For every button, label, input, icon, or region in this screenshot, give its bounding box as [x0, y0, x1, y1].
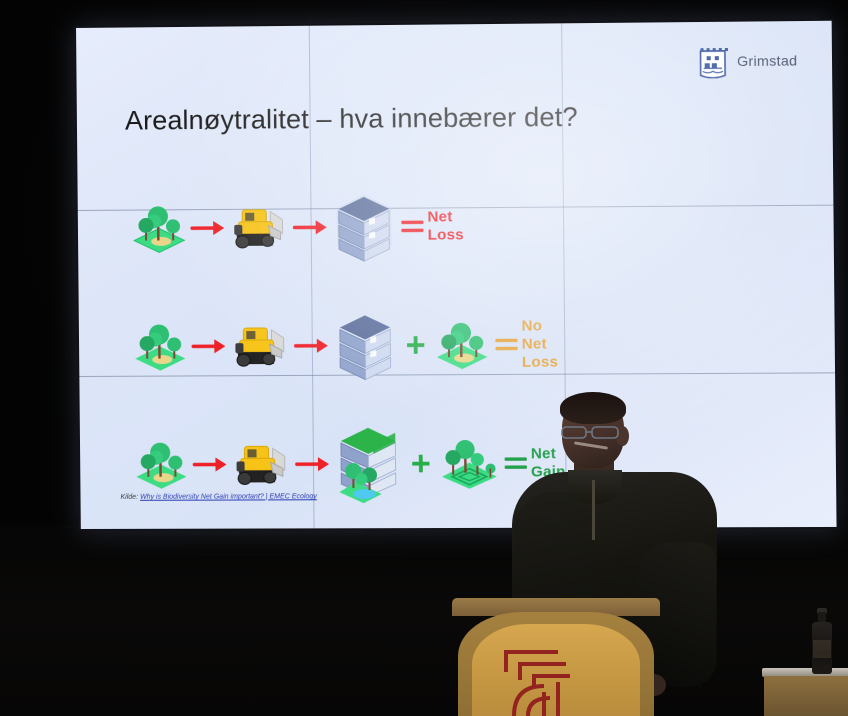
slide-screen: Grimstad Arealnøytralitet – hva innebære… [76, 21, 837, 529]
auditorium-floor [0, 525, 848, 716]
glasses-icon [560, 424, 626, 440]
office-building-icon [330, 191, 397, 264]
trees-plot-icon [132, 437, 191, 493]
arrow-right-icon [292, 334, 332, 358]
equals-icon [491, 336, 522, 354]
source-prefix: Kilde: [121, 494, 139, 501]
arrow-right-icon [189, 334, 229, 358]
red-geometric-spiral-logo [500, 642, 574, 716]
page-title: Arealnøytralitet – hva innebærer det? [125, 102, 578, 137]
green-building-icon [333, 424, 404, 505]
trees-plot-icon [432, 317, 491, 374]
result-line: Loss [522, 354, 558, 373]
podium [452, 598, 660, 716]
result-line: Net [522, 335, 558, 354]
arrow-right-icon [290, 215, 330, 239]
bulldozer-icon [229, 320, 292, 372]
trees-plot-icon [131, 318, 190, 374]
arrow-right-icon [190, 452, 230, 476]
projection-video-wall: Grimstad Arealnøytralitet – hva innebære… [74, 19, 839, 531]
coat-of-arms-ship-icon [697, 44, 728, 79]
plus-icon: + [403, 447, 438, 481]
slide-content: Grimstad Arealnøytralitet – hva innebære… [76, 21, 837, 529]
grimstad-logo: Grimstad [697, 43, 797, 78]
arrow-right-icon [293, 452, 333, 476]
plus-icon: + [398, 328, 433, 362]
equation-row-net-loss: Net Loss [129, 166, 655, 288]
park-plot-icon [438, 434, 501, 493]
logo-label: Grimstad [737, 52, 797, 69]
result-line: No [521, 317, 557, 336]
source-link[interactable]: Why is Biodiversity Net Gain important? … [140, 493, 317, 501]
bulldozer-icon [230, 438, 293, 490]
trees-plot-icon [130, 200, 189, 256]
arrow-right-icon [188, 216, 228, 240]
bulldozer-icon [228, 201, 291, 254]
side-table [762, 668, 848, 716]
bottle-label [813, 640, 831, 658]
result-line: Loss [428, 226, 464, 245]
equals-icon [397, 218, 427, 236]
presenter-hair [560, 392, 626, 424]
jacket-zipper [592, 480, 595, 540]
office-building-icon [332, 309, 399, 382]
screenshot-root: Grimstad Arealnøytralitet – hva innebære… [0, 0, 848, 716]
water-bottle [812, 608, 832, 674]
result-label-net-loss: Net Loss [427, 208, 464, 245]
source-citation: Kilde: Why is Biodiversity Net Gain impo… [121, 493, 317, 501]
result-label-no-net-loss: No Net Loss [521, 317, 558, 372]
equation-row-no-net-loss: + [131, 285, 657, 406]
side-table-base [764, 676, 848, 716]
result-line: Net [427, 208, 463, 227]
